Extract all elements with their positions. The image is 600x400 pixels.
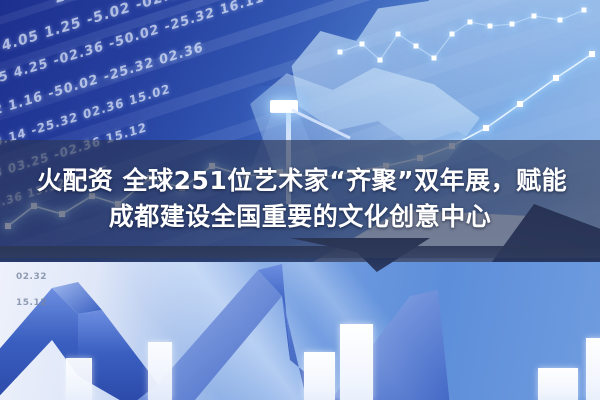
bar-silhouette: [538, 368, 578, 400]
bottom-background-panel: [0, 262, 600, 400]
chart-node-marker: [553, 75, 559, 81]
chart-node-marker: [558, 18, 563, 23]
chart-node-marker: [450, 32, 455, 37]
upper-line-chart-nodes: [338, 8, 587, 63]
headline-overlay-band: 火配资 全球251位艺术家“齐聚”双年展，赋能 成都建设全国重要的文化创意中心: [0, 140, 600, 258]
chart-node-marker: [483, 125, 489, 131]
chart-node-marker: [468, 20, 473, 25]
mini-ticker-label: 02.32: [16, 272, 47, 282]
banner-image: -50.02 -02.36 +11.25 45.02 21.36-02.36 +…: [0, 0, 600, 400]
bar-silhouette: [304, 352, 335, 400]
chart-node-marker: [488, 24, 493, 29]
upper-line-chart-path: [340, 10, 584, 60]
chart-node-marker: [517, 101, 523, 107]
headline-line-2: 成都建设全国重要的文化创意中心: [109, 201, 492, 233]
headline-line-1: 火配资 全球251位艺术家“齐聚”双年展，赋能: [33, 165, 567, 197]
chart-node-marker: [396, 32, 401, 37]
chart-node-marker: [378, 58, 383, 63]
chart-node-marker: [532, 14, 537, 19]
chart-node-marker: [510, 22, 515, 27]
chart-node-marker: [414, 44, 419, 49]
bar-silhouette: [586, 338, 600, 400]
chart-node-marker: [338, 50, 343, 55]
chart-node-marker: [582, 8, 587, 13]
mini-ticker-label: 15.12: [16, 298, 47, 308]
bar-silhouette: [340, 324, 373, 400]
chart-node-marker: [432, 56, 437, 61]
bar-silhouette: [148, 342, 172, 400]
bar-silhouette: [66, 358, 92, 400]
chart-node-marker: [589, 51, 595, 57]
chart-node-marker: [360, 42, 365, 47]
